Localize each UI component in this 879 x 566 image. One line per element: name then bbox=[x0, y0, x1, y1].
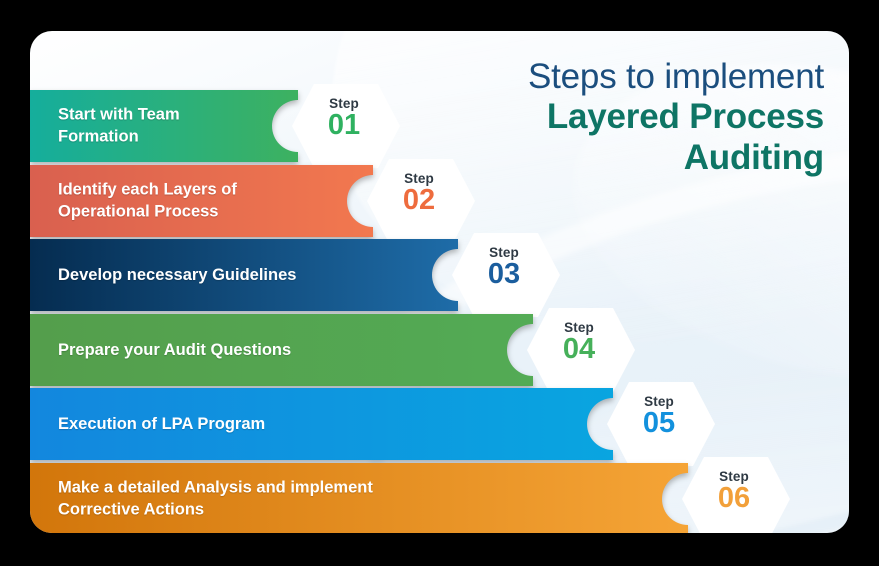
step-badge[interactable]: Step03 bbox=[452, 233, 560, 317]
step-badge[interactable]: Step01 bbox=[292, 84, 400, 168]
title-line-2: Layered Process bbox=[394, 99, 824, 135]
step-bar[interactable]: Prepare your Audit Questions bbox=[30, 314, 533, 386]
step-badge[interactable]: Step04 bbox=[527, 308, 635, 392]
step-badge[interactable]: Step06 bbox=[682, 457, 790, 533]
step-badge[interactable]: Step05 bbox=[607, 382, 715, 466]
step-badge[interactable]: Step02 bbox=[367, 159, 475, 243]
title-line-1: Steps to implement bbox=[394, 59, 824, 95]
step-bar[interactable]: Make a detailed Analysis and implement C… bbox=[30, 463, 688, 533]
infographic-canvas: Steps to implement Layered Process Audit… bbox=[0, 0, 879, 566]
step-bar[interactable]: Develop necessary Guidelines bbox=[30, 239, 458, 311]
step-bar[interactable]: Execution of LPA Program bbox=[30, 388, 613, 460]
infographic-card: Steps to implement Layered Process Audit… bbox=[30, 31, 849, 533]
step-bar[interactable]: Identify each Layers of Operational Proc… bbox=[30, 165, 373, 237]
step-bar[interactable]: Start with Team Formation bbox=[30, 90, 298, 162]
